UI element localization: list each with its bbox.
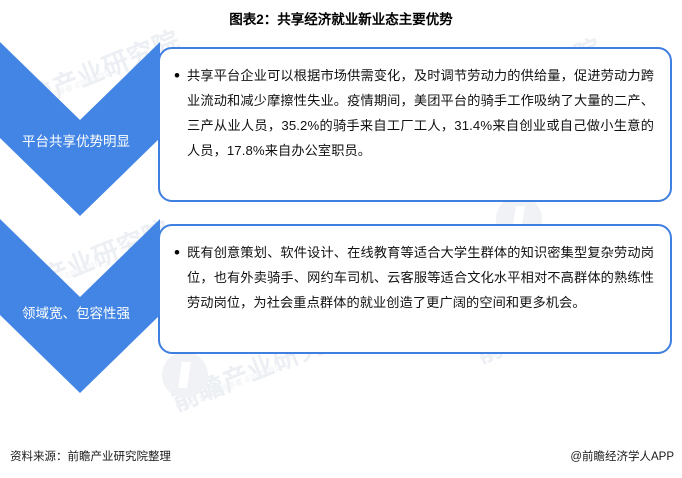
- footer: 资料来源：前瞻产业研究院整理 @前瞻经济学人APP: [0, 441, 682, 478]
- content-box-platform-advantage: • 共享平台企业可以根据市场供需变化，及时调节劳动力的供给量，促进劳动力跨业流动…: [158, 47, 672, 202]
- bullet-item: • 共享平台企业可以根据市场供需变化，及时调节劳动力的供给量，促进劳动力跨业流动…: [160, 49, 670, 175]
- page-title: 图表2：共享经济就业新业态主要优势: [0, 8, 682, 28]
- bullet-marker-icon: •: [174, 240, 187, 315]
- bullet-marker-icon: •: [174, 63, 187, 163]
- footer-source-text: 资料来源：前瞻产业研究院整理: [10, 448, 171, 464]
- footer-brand-text: @前瞻经济学人APP: [570, 448, 674, 464]
- chevron-shape-platform-advantage: [0, 42, 160, 216]
- section-label-broad-inclusive: 领域宽、包容性强: [0, 303, 152, 324]
- content-box-broad-inclusive: • 既有创意策划、软件设计、在线教育等适合大学生群体的知识密集型复杂劳动岗位，也…: [158, 224, 672, 354]
- bullet-item: • 既有创意策划、软件设计、在线教育等适合大学生群体的知识密集型复杂劳动岗位，也…: [160, 226, 670, 327]
- bullet-body-text: 既有创意策划、软件设计、在线教育等适合大学生群体的知识密集型复杂劳动岗位，也有外…: [187, 240, 654, 315]
- watermark-subtext: 中国产业咨询领导者·83995991: [174, 362, 280, 414]
- bullet-body-text: 共享平台企业可以根据市场供需变化，及时调节劳动力的供给量，促进劳动力跨业流动和减…: [187, 63, 654, 163]
- watermark-logo: [162, 352, 208, 398]
- section-label-platform-advantage: 平台共享优势明显: [0, 131, 152, 152]
